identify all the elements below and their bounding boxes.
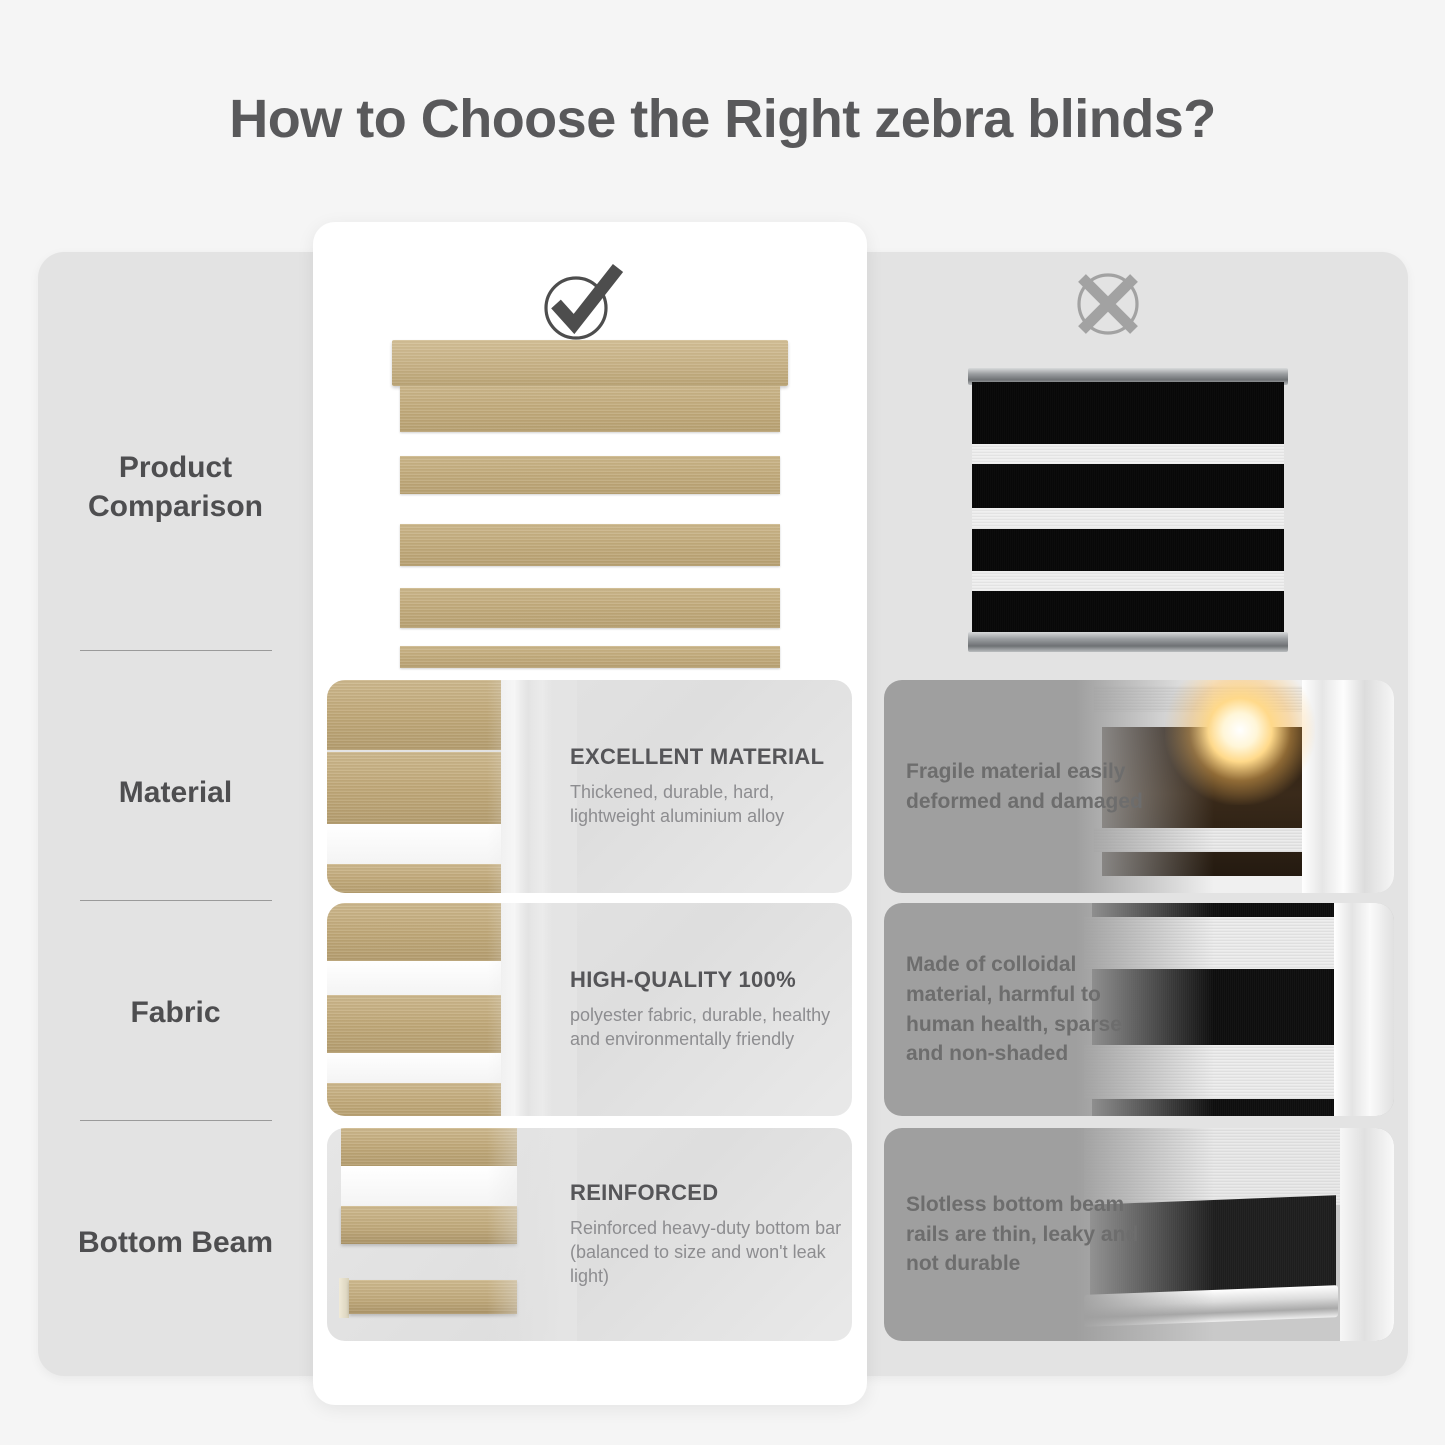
good-feature-card-fabric: HIGH-QUALITY 100% polyester fabric, dura…	[327, 903, 852, 1116]
blind-band	[327, 903, 513, 961]
window-frame	[1340, 1128, 1394, 1341]
feature-heading: HIGH-QUALITY 100%	[570, 967, 835, 993]
bad-feature-card-bottom-beam: Slotless bottom beam rails are thin, lea…	[884, 1128, 1394, 1341]
row-divider-2	[80, 900, 272, 901]
blind-bottom-rail	[968, 632, 1288, 652]
bottom-bar-end-cap	[339, 1278, 349, 1318]
photo-fade	[487, 1128, 577, 1341]
bad-feature-text: Made of colloidal material, harmful to h…	[906, 903, 1156, 1116]
bad-feature-card-fabric: Made of colloidal material, harmful to h…	[884, 903, 1394, 1116]
feature-heading: REINFORCED	[570, 1180, 848, 1206]
blind-sheer-band	[327, 1053, 513, 1083]
good-feature-card-bottom-beam: REINFORCED Reinforced heavy-duty bottom …	[327, 1128, 852, 1341]
feature-text-block: EXCELLENT MATERIAL Thickened, durable, h…	[570, 680, 835, 893]
cross-circle-icon	[1062, 258, 1154, 350]
blind-band	[327, 680, 513, 750]
blind-band	[327, 995, 513, 1053]
row-label-product-comparison: Product Comparison	[38, 427, 313, 547]
blind-sheer-band	[327, 961, 513, 995]
feature-heading: EXCELLENT MATERIAL	[570, 744, 835, 770]
good-hero-blind-image	[392, 340, 788, 665]
photo-fade	[487, 680, 577, 893]
blind-sheer-band	[972, 571, 1284, 591]
blind-black-band	[972, 464, 1284, 508]
beige-blind-fabric-closeup-image	[327, 903, 577, 1116]
blind-black-band	[972, 591, 1284, 633]
feature-description: Reinforced heavy-duty bottom bar (balanc…	[570, 1217, 848, 1289]
blind-sheer-band	[972, 508, 1284, 529]
check-circle-icon	[534, 256, 626, 348]
window-frame	[1302, 680, 1394, 893]
blind-sheer-band	[972, 444, 1284, 464]
bad-feature-text: Fragile material easily deformed and dam…	[906, 680, 1156, 893]
feature-description: polyester fabric, durable, healthy and e…	[570, 1004, 835, 1052]
feature-text-block: HIGH-QUALITY 100% polyester fabric, dura…	[570, 903, 835, 1116]
page-title: How to Choose the Right zebra blinds?	[0, 88, 1445, 150]
feature-description: Thickened, durable, hard, lightweight al…	[570, 781, 835, 829]
row-divider-1	[80, 650, 272, 651]
blind-bottom-bar	[400, 646, 780, 668]
row-label-column: Product Comparison Material Fabric Botto…	[38, 252, 313, 1376]
good-feature-card-material: EXCELLENT MATERIAL Thickened, durable, h…	[327, 680, 852, 893]
blind-black-band	[972, 529, 1284, 571]
blind-band	[327, 864, 513, 893]
blind-slat	[400, 386, 780, 432]
blind-slat	[400, 524, 780, 566]
blind-slat	[400, 588, 780, 628]
bad-feature-text: Slotless bottom beam rails are thin, lea…	[906, 1128, 1156, 1341]
beige-blind-bottom-bar-image	[327, 1128, 577, 1341]
blind-sheer-band	[327, 824, 513, 864]
row-divider-3	[80, 1120, 272, 1121]
window-frame	[1334, 903, 1394, 1116]
feature-text-block: REINFORCED Reinforced heavy-duty bottom …	[570, 1128, 848, 1341]
blind-band	[327, 752, 513, 824]
photo-fade	[487, 903, 577, 1116]
blind-slat	[400, 456, 780, 494]
bad-hero-blind-image	[968, 368, 1288, 656]
blind-black-band	[972, 382, 1284, 444]
blind-headrail	[392, 340, 788, 386]
row-label-bottom-beam: Bottom Beam	[38, 1182, 313, 1302]
row-label-fabric: Fabric	[38, 972, 313, 1052]
blind-band	[327, 1083, 513, 1116]
row-label-material: Material	[38, 752, 313, 832]
beige-blind-window-closeup-image	[327, 680, 577, 893]
bad-feature-card-material: Fragile material easily deformed and dam…	[884, 680, 1394, 893]
